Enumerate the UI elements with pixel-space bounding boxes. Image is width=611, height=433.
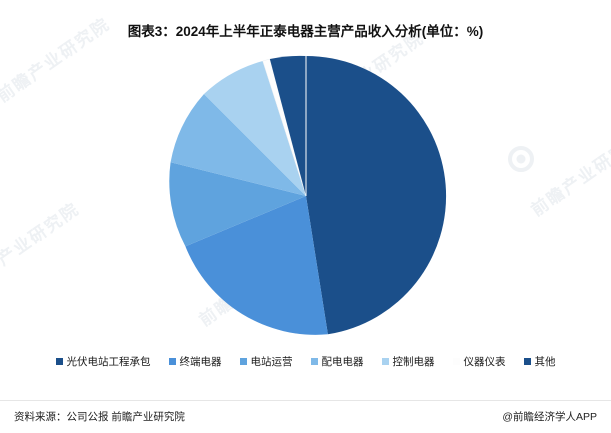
legend-label: 光伏电站工程承包 xyxy=(67,354,151,369)
legend-item-0[interactable]: 光伏电站工程承包 xyxy=(56,354,151,369)
legend-label: 其他 xyxy=(535,354,556,369)
legend-swatch-icon xyxy=(56,358,63,365)
pie-chart xyxy=(162,52,450,340)
page-title: 图表3：2024年上半年正泰电器主营产品收入分析(单位：%) xyxy=(0,20,611,40)
legend-label: 终端电器 xyxy=(180,354,222,369)
legend-item-3[interactable]: 配电电器 xyxy=(311,354,364,369)
pie-slice-0[interactable] xyxy=(306,56,446,334)
legend-swatch-icon xyxy=(169,358,176,365)
credit-note: @前瞻经济学人APP xyxy=(502,409,597,424)
legend-label: 电站运营 xyxy=(251,354,293,369)
legend-swatch-icon xyxy=(453,358,460,365)
legend-swatch-icon xyxy=(524,358,531,365)
legend-item-6[interactable]: 其他 xyxy=(524,354,556,369)
legend-item-4[interactable]: 控制电器 xyxy=(382,354,435,369)
legend-swatch-icon xyxy=(240,358,247,365)
footer-divider xyxy=(0,400,611,401)
legend-label: 控制电器 xyxy=(393,354,435,369)
legend-label: 配电电器 xyxy=(322,354,364,369)
chart-area xyxy=(0,44,611,344)
legend: 光伏电站工程承包 终端电器 电站运营 配电电器 控制电器 仪器仪表 其他 xyxy=(0,354,611,369)
legend-swatch-icon xyxy=(382,358,389,365)
legend-item-2[interactable]: 电站运营 xyxy=(240,354,293,369)
legend-label: 仪器仪表 xyxy=(464,354,506,369)
source-note: 资料来源：公司公报 前瞻产业研究院 xyxy=(14,409,185,424)
legend-swatch-icon xyxy=(311,358,318,365)
legend-item-5[interactable]: 仪器仪表 xyxy=(453,354,506,369)
pie-chart-svg xyxy=(162,52,450,340)
legend-item-1[interactable]: 终端电器 xyxy=(169,354,222,369)
footer: 资料来源：公司公报 前瞻产业研究院 @前瞻经济学人APP xyxy=(0,409,611,424)
